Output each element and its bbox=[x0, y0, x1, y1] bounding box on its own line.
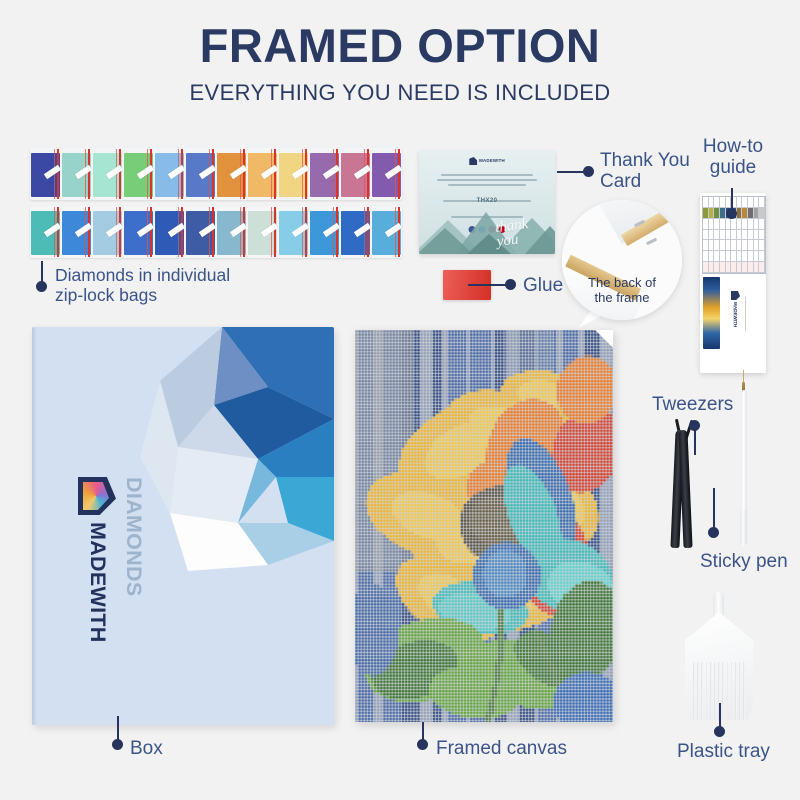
bag-zip-strip bbox=[243, 149, 245, 199]
callout-dot-framed-canvas bbox=[417, 739, 428, 750]
bag-zip-strip bbox=[88, 149, 90, 199]
bag-zip-strip bbox=[274, 149, 276, 199]
bag-zip-strip bbox=[119, 149, 121, 199]
bag-zip-strip bbox=[150, 207, 152, 257]
callout-line-sticky-pen bbox=[713, 488, 715, 530]
diamond-bag bbox=[216, 148, 247, 200]
guide-chart-row bbox=[703, 230, 765, 241]
callout-label-box: Box bbox=[130, 738, 163, 759]
diamond-bag bbox=[92, 148, 123, 200]
callout-label-tweezers: Tweezers bbox=[652, 394, 733, 415]
guide-chart-cell bbox=[759, 219, 765, 230]
guide-chart-cell bbox=[759, 240, 765, 251]
bag-zip-strip bbox=[243, 207, 245, 257]
guide-chart-cell bbox=[759, 251, 765, 262]
bag-zip-strip bbox=[336, 149, 338, 199]
box-logo: MADEWITH bbox=[78, 477, 116, 643]
callout-label-sticky-pen: Sticky pen bbox=[700, 551, 788, 572]
bag-zip-strip bbox=[398, 149, 400, 199]
guide-chart-row bbox=[703, 197, 765, 208]
diamond-bag bbox=[309, 148, 340, 200]
box-logo-subtext: DIAMONDS bbox=[123, 477, 145, 596]
tray-rib bbox=[743, 662, 745, 724]
callout-dot-plastic-tray bbox=[714, 726, 725, 737]
diamond-bag bbox=[340, 206, 371, 258]
diamond-gem-icon bbox=[469, 157, 477, 165]
bag-zip-strip bbox=[88, 207, 90, 257]
product-box: MADEWITH DIAMONDS bbox=[32, 327, 334, 725]
canvas-artwork bbox=[355, 330, 613, 722]
diamond-bag bbox=[30, 206, 61, 258]
infographic-stage: FRAMED OPTION EVERYTHING YOU NEED IS INC… bbox=[0, 0, 800, 800]
card-text-line bbox=[448, 184, 526, 186]
guide-chart-cell bbox=[759, 262, 765, 273]
diamond-bag bbox=[154, 148, 185, 200]
tray-rib bbox=[727, 662, 729, 724]
callout-dot-sticky-pen bbox=[708, 527, 719, 538]
bag-zip-strip bbox=[212, 149, 214, 199]
canvas-corner-peel bbox=[591, 330, 613, 350]
diamond-bag bbox=[340, 148, 371, 200]
bag-zip-strip bbox=[119, 207, 121, 257]
tray-rib bbox=[693, 662, 695, 724]
tray-rib bbox=[739, 662, 741, 724]
callout-dot-thank-you bbox=[583, 166, 594, 177]
diamond-bag-row-1 bbox=[30, 148, 402, 200]
diamond-gem-icon bbox=[78, 477, 116, 515]
guide-rule-2 bbox=[733, 305, 734, 327]
tray-rib bbox=[701, 662, 703, 724]
bag-zip-strip bbox=[181, 149, 183, 199]
bag-zip-strip bbox=[336, 207, 338, 257]
guide-chart-cell bbox=[759, 208, 765, 219]
diamond-bag bbox=[123, 206, 154, 258]
page-subtitle: EVERYTHING YOU NEED IS INCLUDED bbox=[0, 82, 800, 104]
diamond-bags-group bbox=[30, 148, 402, 260]
card-thankyou-script: thank you bbox=[494, 215, 549, 251]
callout-label-diamonds: Diamonds in individual zip-lock bags bbox=[55, 266, 230, 305]
diamond-bag bbox=[247, 148, 278, 200]
guide-chart-cell bbox=[759, 197, 765, 208]
guide-rule-1 bbox=[745, 297, 746, 331]
bag-zip-strip bbox=[305, 149, 307, 199]
tweezers bbox=[662, 418, 706, 548]
tray-rib bbox=[697, 662, 699, 724]
diamond-bag bbox=[247, 206, 278, 258]
diamond-bag bbox=[185, 206, 216, 258]
guide-chart-row bbox=[703, 262, 765, 273]
guide-photo bbox=[703, 277, 720, 349]
diamond-bag bbox=[278, 148, 309, 200]
diamond-bag bbox=[92, 206, 123, 258]
diamond-bag bbox=[278, 206, 309, 258]
bag-zip-strip bbox=[181, 207, 183, 257]
diamond-bag bbox=[61, 206, 92, 258]
bag-zip-strip bbox=[212, 207, 214, 257]
tray-rib bbox=[735, 662, 737, 724]
card-text-line bbox=[437, 179, 537, 181]
tray-rib bbox=[706, 662, 708, 724]
bag-zip-strip bbox=[274, 207, 276, 257]
thank-you-card: MADEWITH THX20 thank you bbox=[419, 150, 555, 254]
card-text-line bbox=[441, 174, 533, 176]
guide-chart-row bbox=[703, 251, 765, 262]
diamond-gem-icon bbox=[731, 291, 740, 300]
callout-dot-glue bbox=[505, 279, 516, 290]
card-promo-code: THX20 bbox=[419, 198, 555, 204]
how-to-guide: MADEWITH bbox=[700, 193, 766, 373]
framed-canvas bbox=[355, 330, 613, 722]
callout-dot-diamonds bbox=[36, 281, 47, 292]
box-logo-text: MADEWITH bbox=[86, 522, 108, 643]
bag-zip-strip bbox=[57, 149, 59, 199]
pen-body bbox=[741, 390, 747, 524]
guide-chart-row bbox=[703, 240, 765, 251]
diamond-bag bbox=[371, 148, 402, 200]
diamond-bag bbox=[371, 206, 402, 258]
diamond-bag bbox=[154, 206, 185, 258]
bag-zip-strip bbox=[367, 149, 369, 199]
callout-label-framed-canvas: Framed canvas bbox=[436, 738, 567, 759]
diamond-bag bbox=[216, 206, 247, 258]
bubble-caption: The back of the frame bbox=[562, 275, 682, 306]
callout-dot-how-to bbox=[726, 208, 737, 219]
guide-chart-cell bbox=[759, 230, 765, 241]
plastic-tray bbox=[685, 592, 753, 720]
bag-zip-strip bbox=[367, 207, 369, 257]
tweezer-arm-right bbox=[678, 430, 692, 548]
tray-rib bbox=[714, 662, 716, 724]
bag-zip-strip bbox=[398, 207, 400, 257]
box-polygon-art bbox=[118, 327, 334, 589]
diamond-bag bbox=[309, 206, 340, 258]
diamond-bag bbox=[123, 148, 154, 200]
tray-rib bbox=[731, 662, 733, 724]
card-logo: MADEWITH bbox=[469, 157, 505, 165]
sticky-pen bbox=[739, 382, 748, 550]
frame-back-bubble: The back of the frame bbox=[562, 200, 682, 320]
box-logo-sub-wrap: DIAMONDS bbox=[123, 477, 145, 596]
callout-label-plastic-tray: Plastic tray bbox=[677, 741, 770, 762]
pen-grip bbox=[740, 510, 748, 546]
callout-line-tweezers bbox=[694, 427, 696, 455]
diamond-bag bbox=[185, 148, 216, 200]
callout-line-diamonds bbox=[41, 261, 43, 283]
bag-zip-strip bbox=[57, 207, 59, 257]
callout-label-how-to: How-to guide bbox=[701, 136, 765, 179]
page-title: FRAMED OPTION bbox=[0, 22, 800, 69]
diamond-bag bbox=[30, 148, 61, 200]
bag-zip-strip bbox=[305, 207, 307, 257]
card-logo-text: MADEWITH bbox=[479, 158, 505, 163]
tray-rib bbox=[710, 662, 712, 724]
callout-label-thank-you: Thank You Card bbox=[600, 150, 690, 193]
guide-chart-row bbox=[703, 219, 765, 230]
callout-dot-tweezers bbox=[689, 420, 700, 431]
callout-dot-box bbox=[112, 739, 123, 750]
bag-zip-strip bbox=[150, 149, 152, 199]
diamond-bag-row-2 bbox=[30, 206, 402, 258]
tray-rib bbox=[722, 662, 724, 724]
diamond-bag bbox=[61, 148, 92, 200]
callout-label-glue: Glue bbox=[523, 275, 563, 296]
box-left-edge bbox=[32, 327, 37, 725]
